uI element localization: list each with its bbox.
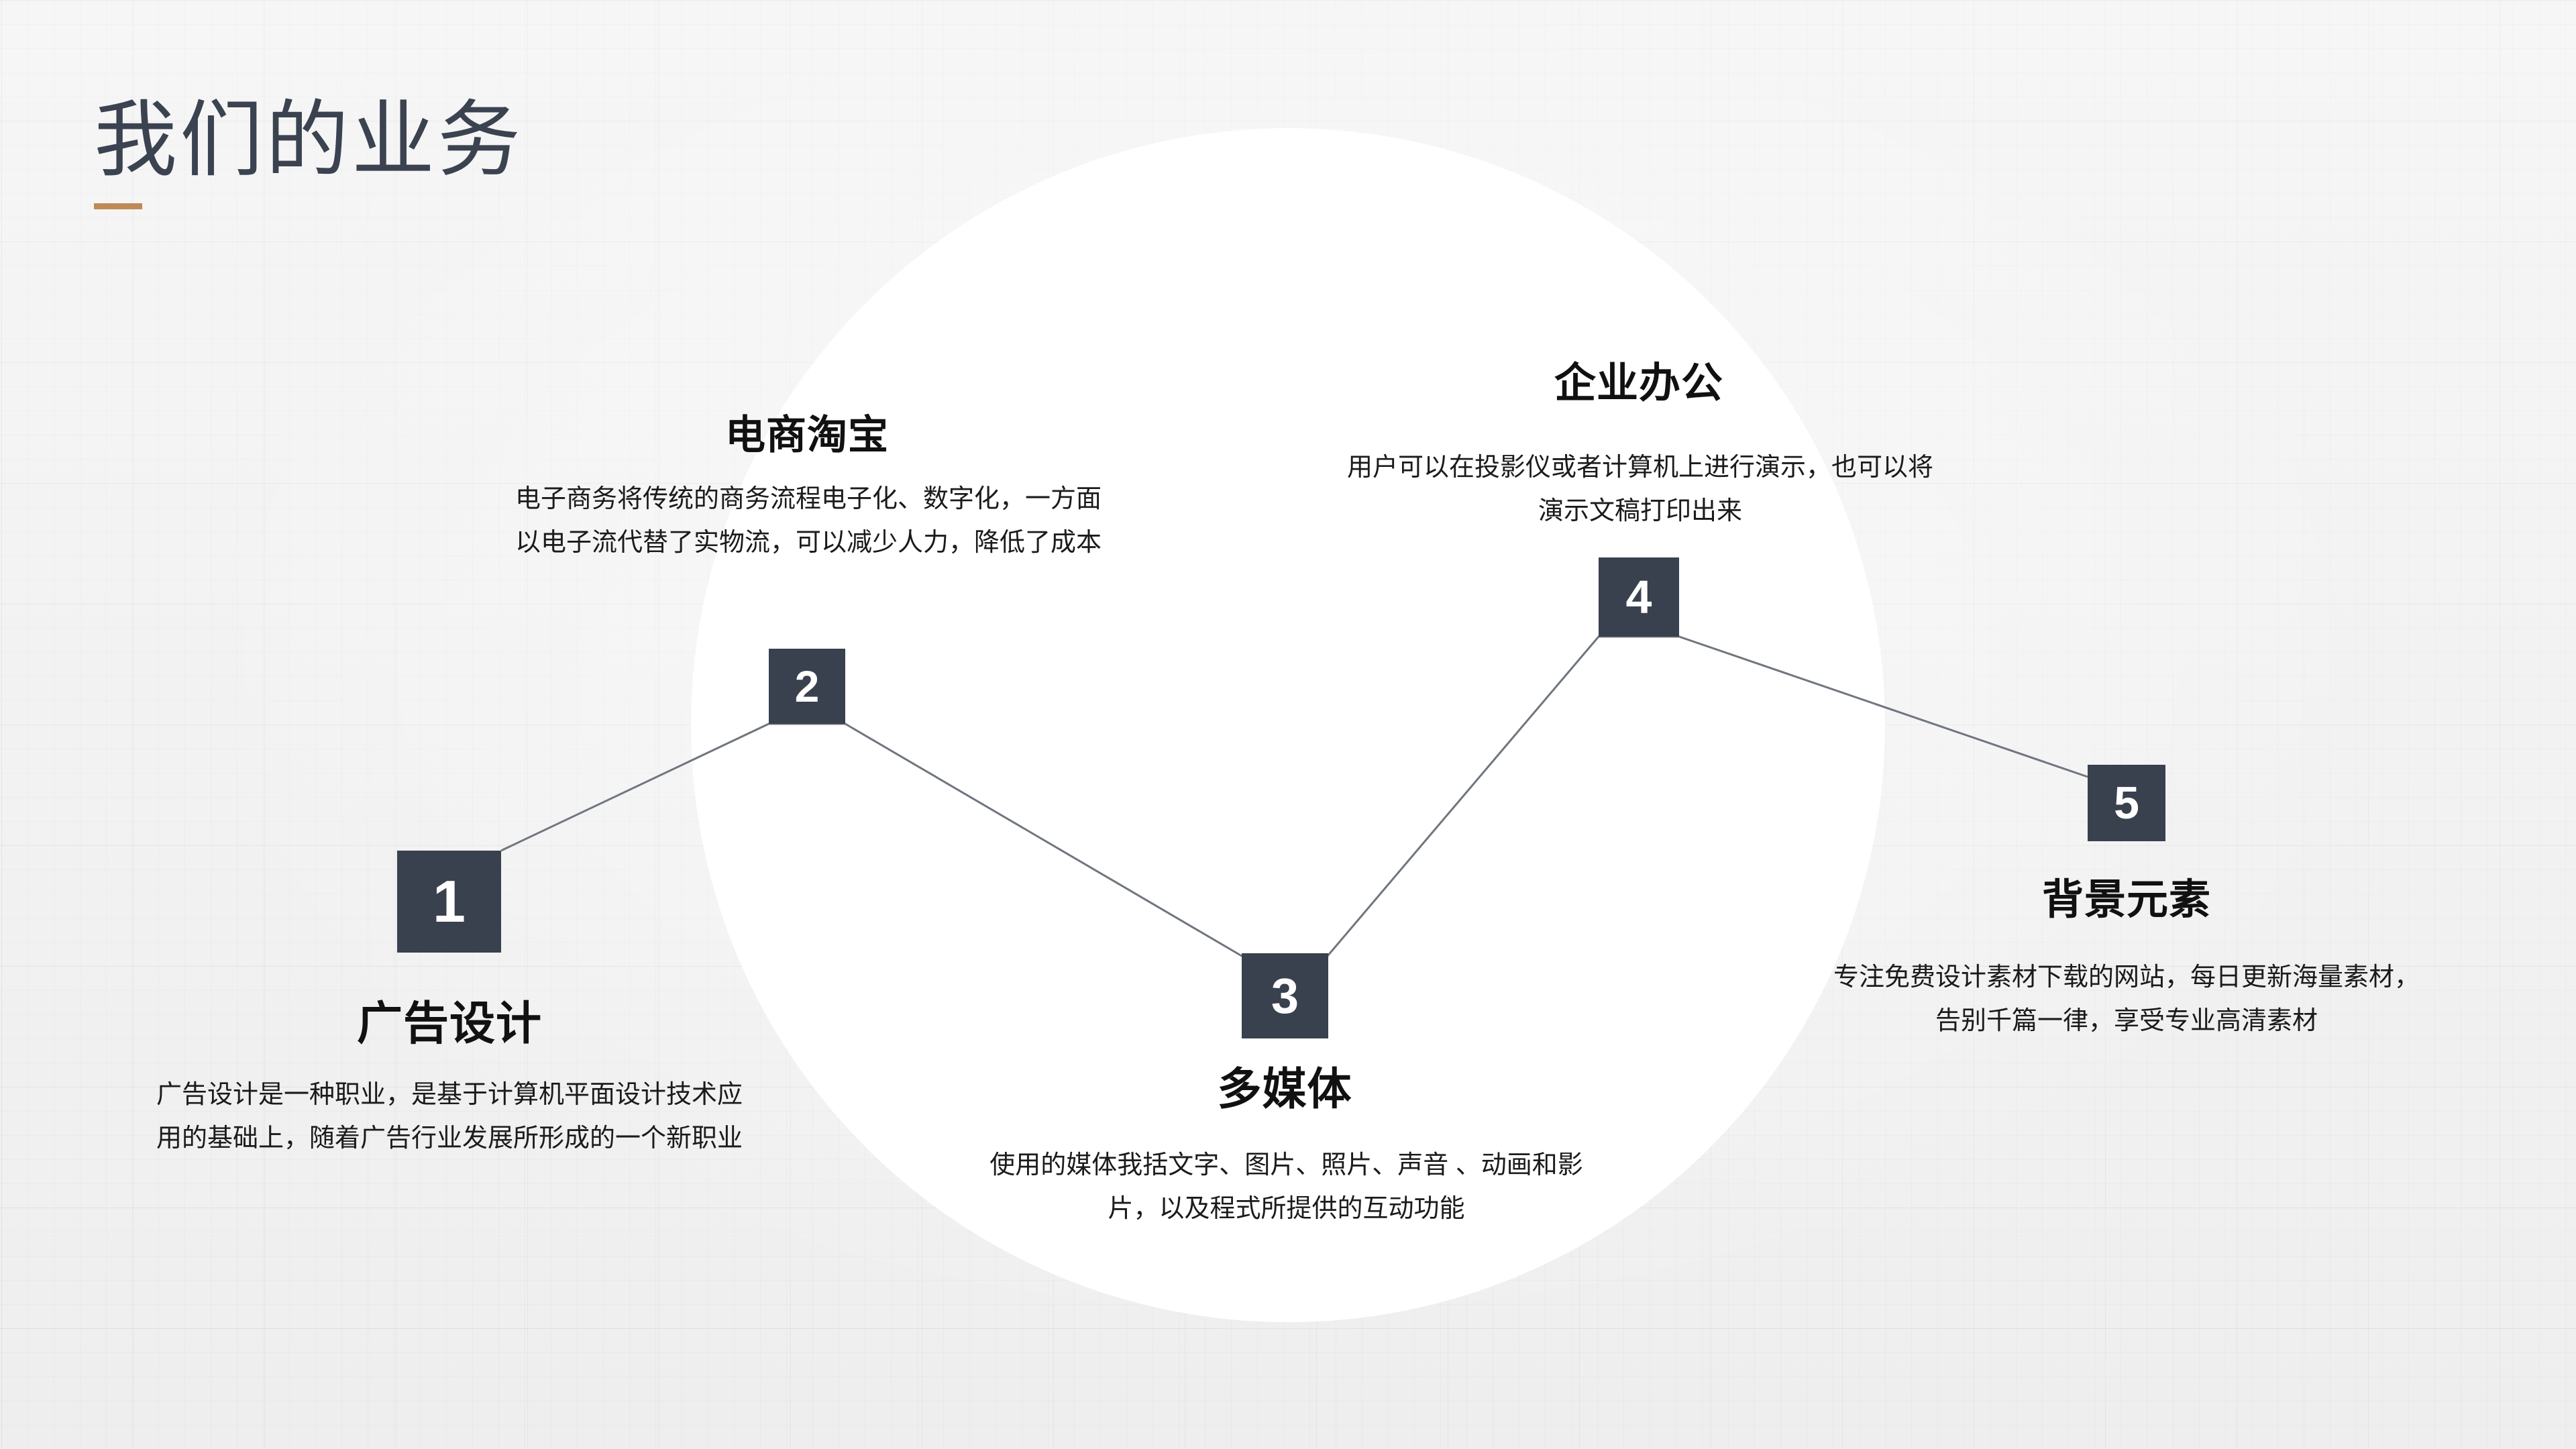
page-title: 我们的业务 (94, 94, 523, 187)
page-title-block: 我们的业务 (94, 94, 523, 209)
item-title-5: 背景元素 (1939, 865, 2314, 926)
node-box-2[interactable]: 2 (769, 649, 845, 724)
node-number-5: 5 (2114, 780, 2139, 826)
item-body-2: 电子商务将传统的商务流程电子化、数字化，一方面以电子流代替了实物流，可以减少人力… (510, 478, 1107, 564)
item-body-3: 使用的媒体我括文字、图片、照片、声音 、动画和影片，以及程式所提供的互动功能 (966, 1144, 1607, 1230)
item-title-4: 企业办公 (1451, 349, 1827, 409)
item-title-3: 多媒体 (1097, 1053, 1472, 1118)
node-number-1: 1 (433, 872, 466, 931)
node-box-3[interactable]: 3 (1242, 953, 1328, 1038)
node-box-1[interactable]: 1 (397, 851, 501, 953)
connector-polyline (0, 0, 2576, 1449)
item-body-4: 用户可以在投影仪或者计算机上进行演示，也可以将演示文稿打印出来 (1338, 446, 1942, 533)
node-number-4: 4 (1626, 574, 1652, 621)
item-title-2: 电商淘宝 (619, 402, 995, 461)
title-accent-rule (94, 203, 142, 209)
node-number-2: 2 (795, 664, 820, 708)
item-body-1: 广告设计是一种职业，是基于计算机平面设计技术应用的基础上，随着广告行业发展所形成… (144, 1073, 755, 1160)
node-box-4[interactable]: 4 (1599, 557, 1679, 637)
item-body-5: 专注免费设计素材下载的网站，每日更新海量素材，告别千篇一律，享受专业高清素材 (1828, 956, 2425, 1042)
item-title-1: 广告设计 (262, 986, 637, 1053)
node-number-3: 3 (1271, 971, 1299, 1021)
node-box-5[interactable]: 5 (2088, 765, 2165, 841)
